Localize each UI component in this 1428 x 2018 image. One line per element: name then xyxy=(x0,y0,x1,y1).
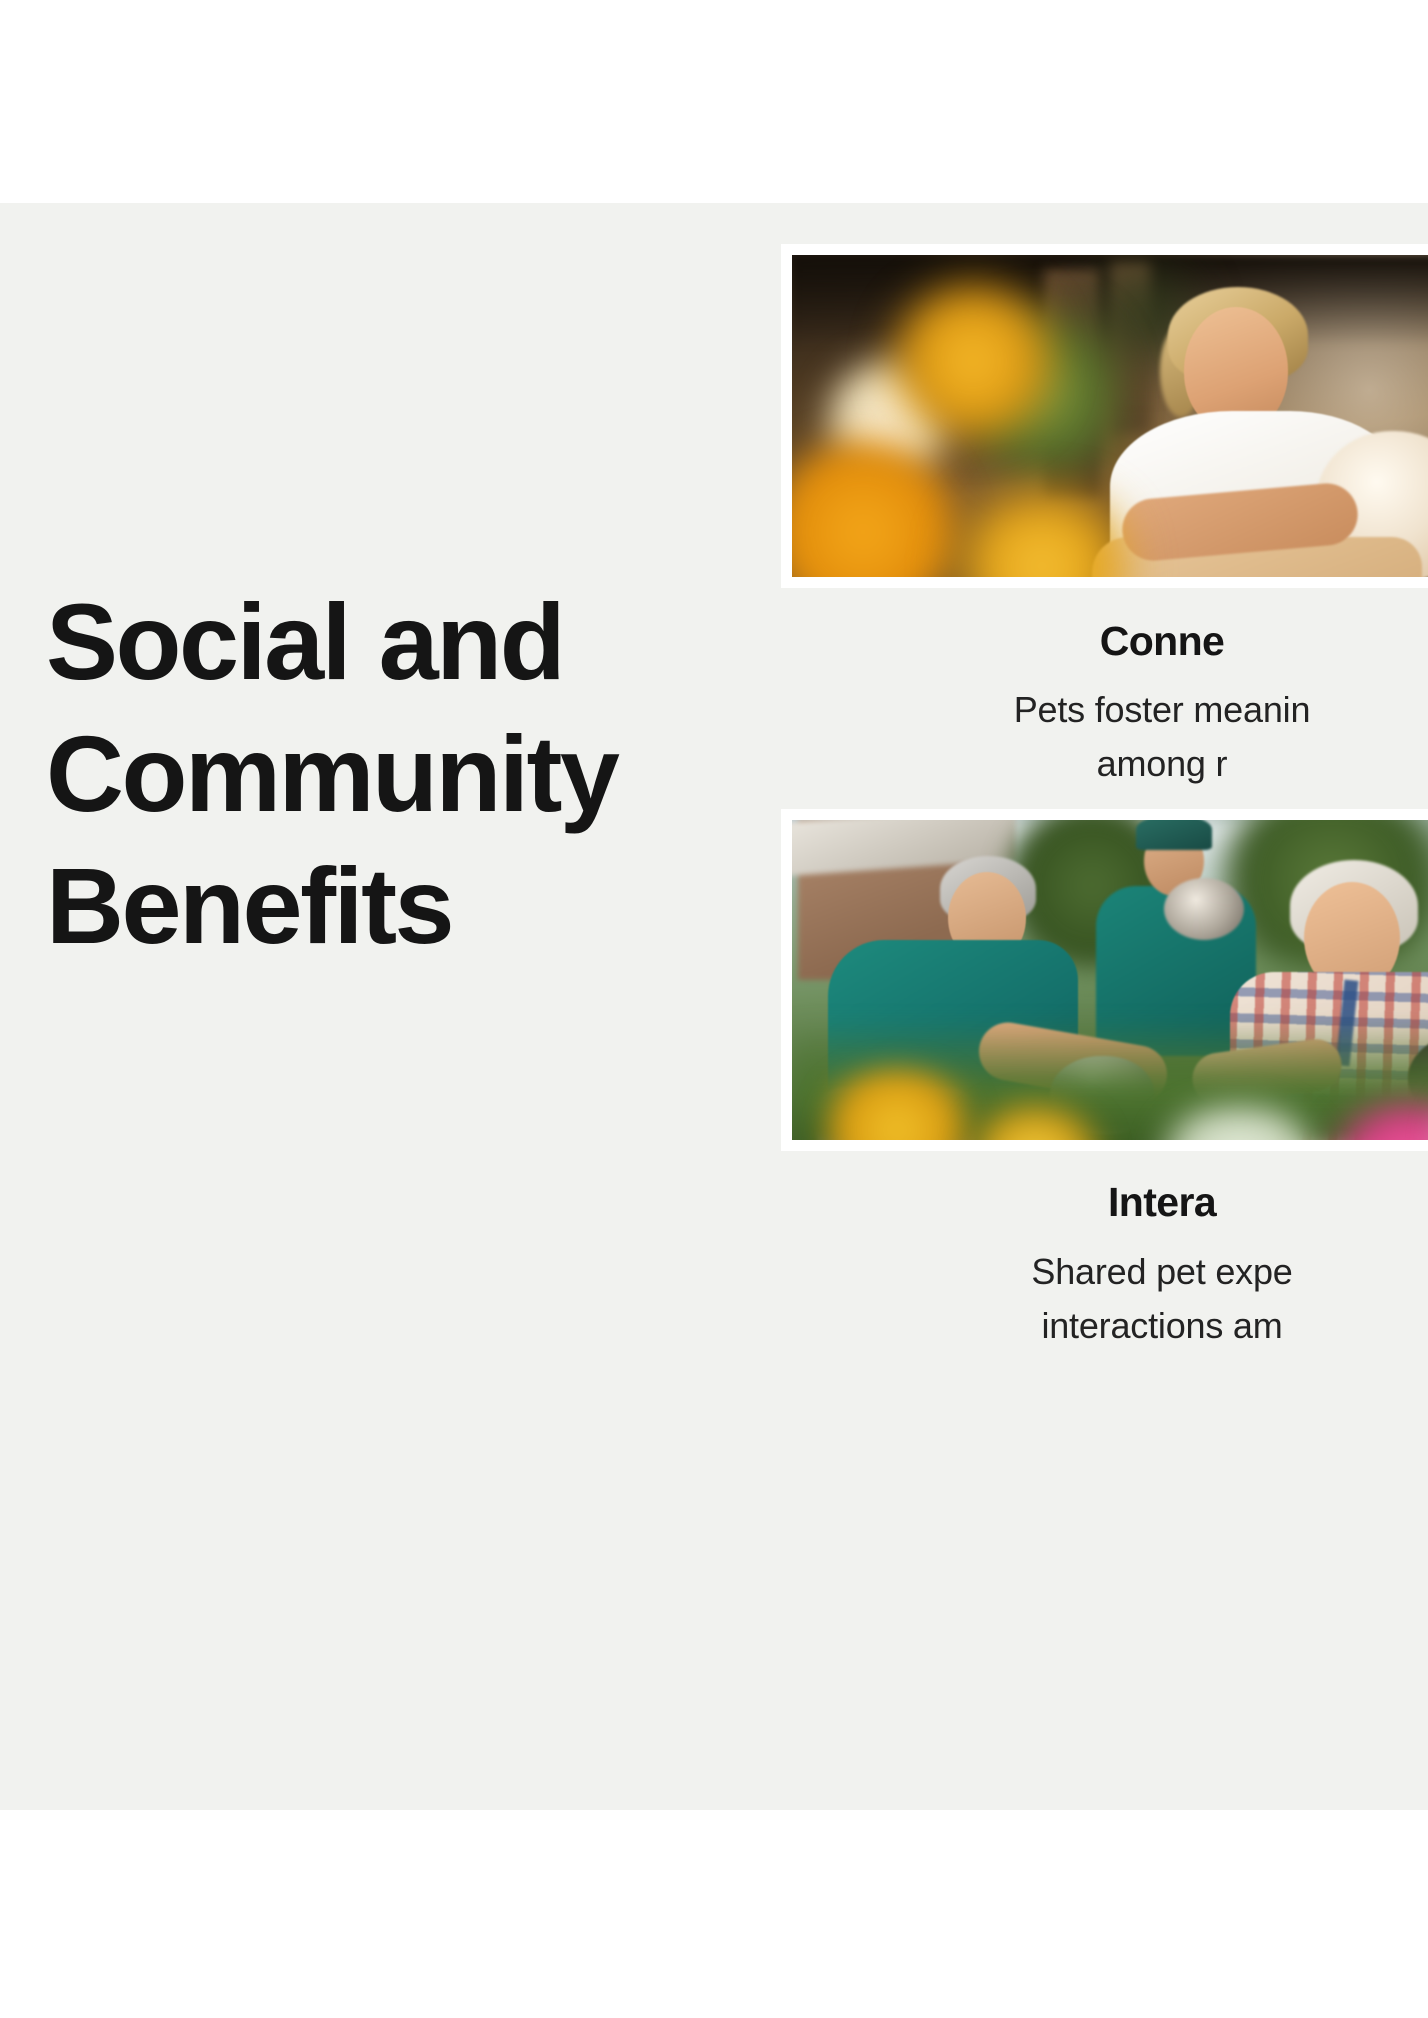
card-heading: Conne xyxy=(781,616,1428,667)
page-title: Social and Community Benefits xyxy=(46,576,746,971)
card-body: Pets foster meanin among r xyxy=(781,683,1428,791)
photo-scene xyxy=(792,820,1428,1140)
card-body-line: among r xyxy=(1097,743,1228,784)
benefit-card: Intera Shared pet expe interactions am xyxy=(781,809,1428,1352)
slide-canvas: Social and Community Benefits xyxy=(0,203,1428,1810)
card-body-line: Pets foster meanin xyxy=(1014,689,1311,730)
card-body-line: Shared pet expe xyxy=(1031,1251,1292,1292)
card-heading: Intera xyxy=(781,1177,1428,1228)
card-photo-interaction xyxy=(781,809,1428,1151)
photo-scene xyxy=(792,255,1428,577)
cap-icon xyxy=(1136,816,1212,850)
title-column: Social and Community Benefits xyxy=(46,576,746,971)
card-photo-connection xyxy=(781,244,1428,588)
benefit-card: Conne Pets foster meanin among r xyxy=(781,244,1428,791)
dog-shape xyxy=(1164,878,1244,940)
cards-column: Conne Pets foster meanin among r xyxy=(781,244,1428,1363)
bokeh-flower xyxy=(884,281,1062,441)
card-body-line: interactions am xyxy=(1041,1305,1282,1346)
card-body: Shared pet expe interactions am xyxy=(781,1245,1428,1353)
